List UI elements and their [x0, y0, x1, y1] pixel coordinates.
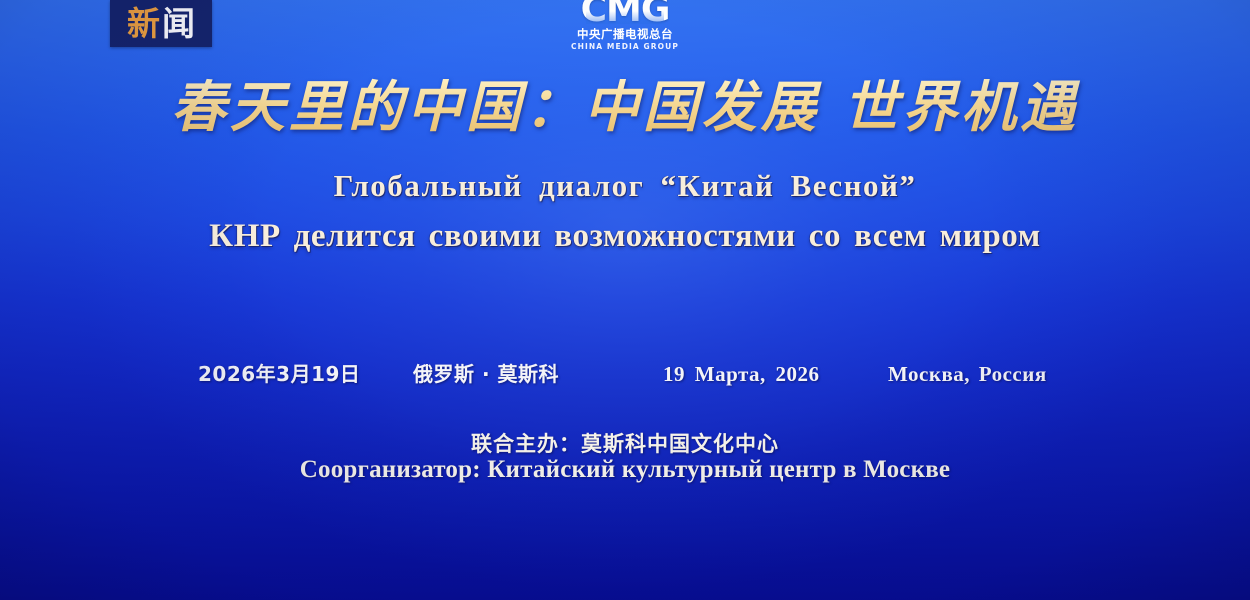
broadcast-title-card: 新 闻 CMG 中央广播电视总台 CHINA MEDIA GROUP 春天里的中… — [0, 0, 1250, 600]
organizer-line-chinese: 联合主办：莫斯科中国文化中心 — [0, 428, 1250, 458]
event-date-russian: 19 Марта, 2026 — [663, 362, 888, 387]
event-date-chinese: 2026年3月19日 — [198, 358, 413, 387]
cmg-wordmark: CMG — [581, 0, 670, 28]
subtitle-line-1: Глобальный диалог “Китай Весной” — [0, 168, 1250, 204]
organizer-line-russian: Соорганизатор: Китайский культурный цент… — [0, 456, 1250, 484]
event-info-row: 2026年3月19日 俄罗斯 · 莫斯科 19 Марта, 2026 Моск… — [198, 358, 1058, 387]
subtitle-line-2: КНР делится своими возможностями со всем… — [0, 218, 1250, 255]
cmg-name-english: CHINA MEDIA GROUP — [550, 43, 700, 51]
news-badge-char-2: 闻 — [162, 7, 195, 40]
news-badge-icon: 新 闻 — [110, 0, 212, 47]
event-place-chinese: 俄罗斯 · 莫斯科 — [413, 358, 663, 387]
page-title: 春天里的中国：中国发展 世界机遇 — [0, 78, 1250, 136]
cmg-name-chinese: 中央广播电视总台 — [550, 29, 700, 41]
cmg-logo: CMG 中央广播电视总台 CHINA MEDIA GROUP — [550, 0, 700, 50]
event-place-russian: Москва, Россия — [888, 362, 1058, 387]
news-badge-char-1: 新 — [127, 7, 160, 40]
